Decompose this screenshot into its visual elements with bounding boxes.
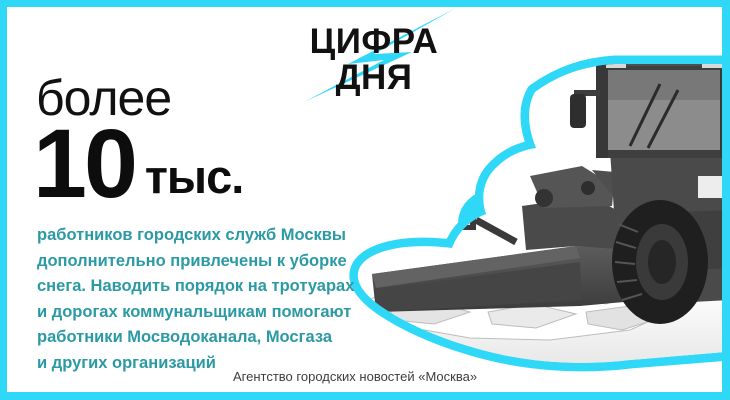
poster-canvas: ЦИФРА ДНЯ более 10 тыс. работников город… <box>0 0 730 400</box>
loader-rear-lamp <box>698 176 726 198</box>
headline-number: 10 <box>33 122 135 205</box>
loader-cab <box>592 54 730 158</box>
headline-number-row: 10 тыс. <box>33 122 243 205</box>
body-line-4: и дорогах коммунальщикам помогают <box>37 300 437 326</box>
body-line-5: работники Мосводоканала, Мосгаза <box>37 325 437 351</box>
body-copy: работников городских служб Москвы дополн… <box>37 223 437 376</box>
headline-unit: тыс. <box>145 153 243 205</box>
logo-line-2: ДНЯ <box>288 60 460 95</box>
loader-wheel <box>612 200 708 324</box>
logo-block: ЦИФРА ДНЯ <box>288 2 460 106</box>
source-credit: Агентство городских новостей «Москва» <box>233 369 477 384</box>
logo-line-1: ЦИФРА <box>288 24 460 59</box>
body-line-3: снега. Наводить порядок на тротуарах <box>37 274 437 300</box>
body-line-1: работников городских служб Москвы <box>37 223 437 249</box>
body-line-2: дополнительно привлечены к уборке <box>37 249 437 275</box>
frame-border-left <box>0 0 7 400</box>
